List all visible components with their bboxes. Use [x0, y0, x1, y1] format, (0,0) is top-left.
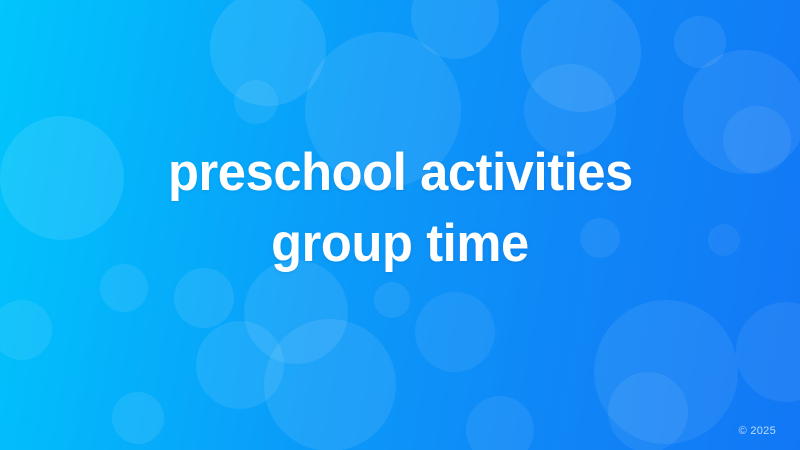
slide-canvas: preschool activities group time © 2025	[0, 0, 800, 450]
title-line-2: group time	[271, 208, 529, 279]
copyright-notice: © 2025	[739, 425, 776, 437]
title-block: preschool activities group time	[0, 0, 800, 450]
title-line-1: preschool activities	[168, 137, 633, 208]
